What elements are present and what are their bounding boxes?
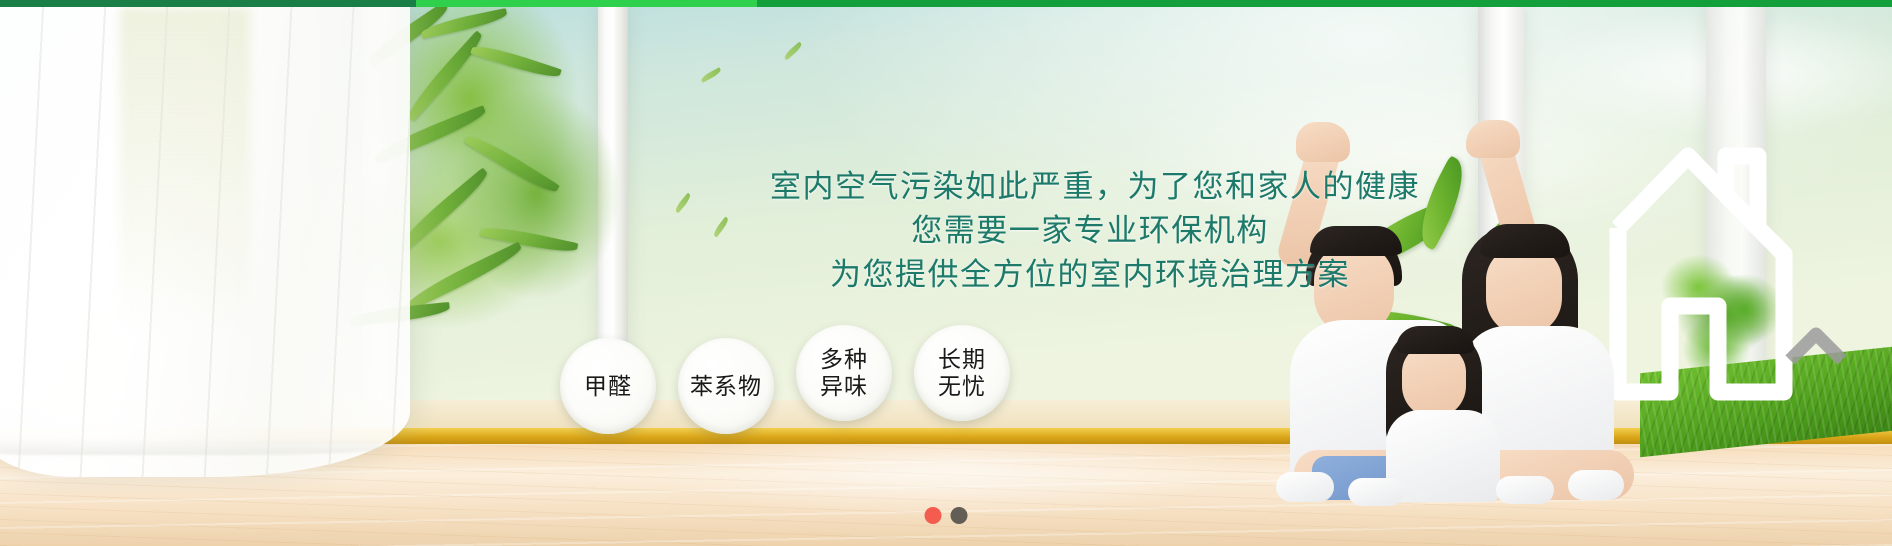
feature-badge-group: 甲醛 苯系物 多种 异味 长期 无忧	[560, 325, 1010, 447]
child-bangs	[1396, 326, 1474, 354]
carousel-dots	[925, 507, 968, 524]
badge-formaldehyde[interactable]: 甲醛	[560, 338, 656, 434]
badge-label-line-2: 无忧	[938, 373, 986, 400]
mother-hair-front	[1480, 224, 1570, 258]
shoe	[1348, 478, 1404, 506]
curtain-folds	[0, 7, 410, 477]
badge-benzene[interactable]: 苯系物	[678, 338, 774, 434]
badge-odors[interactable]: 多种 异味	[796, 325, 892, 421]
shoe	[1496, 476, 1554, 504]
hero-banner-slide[interactable]: 室内空气污染如此严重，为了您和家人的健康 您需要一家专业环保机构 为您提供全方位…	[0, 0, 1892, 546]
mother-hand	[1466, 120, 1520, 158]
mother-face	[1486, 246, 1562, 336]
badge-longterm[interactable]: 长期 无忧	[914, 325, 1010, 421]
headline-line-2: 您需要一家专业环保机构	[770, 209, 1410, 253]
curtain-hem	[0, 439, 380, 455]
badge-label-line-1: 苯系物	[690, 373, 762, 400]
carousel-dot-2[interactable]	[951, 507, 968, 524]
child-face	[1402, 344, 1466, 418]
headline-line-1: 室内空气污染如此严重，为了您和家人的健康	[770, 165, 1410, 209]
headline-text-block: 室内空气污染如此严重，为了您和家人的健康 您需要一家专业环保机构 为您提供全方位…	[770, 165, 1410, 297]
floor-sheen	[530, 444, 1362, 546]
top-progress-bar	[0, 0, 1892, 7]
top-progress-fill-dark	[0, 0, 416, 7]
white-sheer-curtain	[0, 7, 410, 477]
headline-line-3: 为您提供全方位的室内环境治理方案	[770, 253, 1410, 297]
badge-label-line-2: 异味	[820, 373, 868, 400]
father-hand	[1296, 122, 1350, 162]
top-progress-fill-bright	[416, 0, 757, 7]
badge-label-line-1: 多种	[820, 346, 868, 373]
shoe	[1568, 470, 1624, 500]
shoe	[1276, 472, 1334, 502]
badge-label-line-1: 甲醛	[584, 373, 632, 400]
carousel-dot-1[interactable]	[925, 507, 942, 524]
badge-label-line-1: 长期	[938, 346, 986, 373]
